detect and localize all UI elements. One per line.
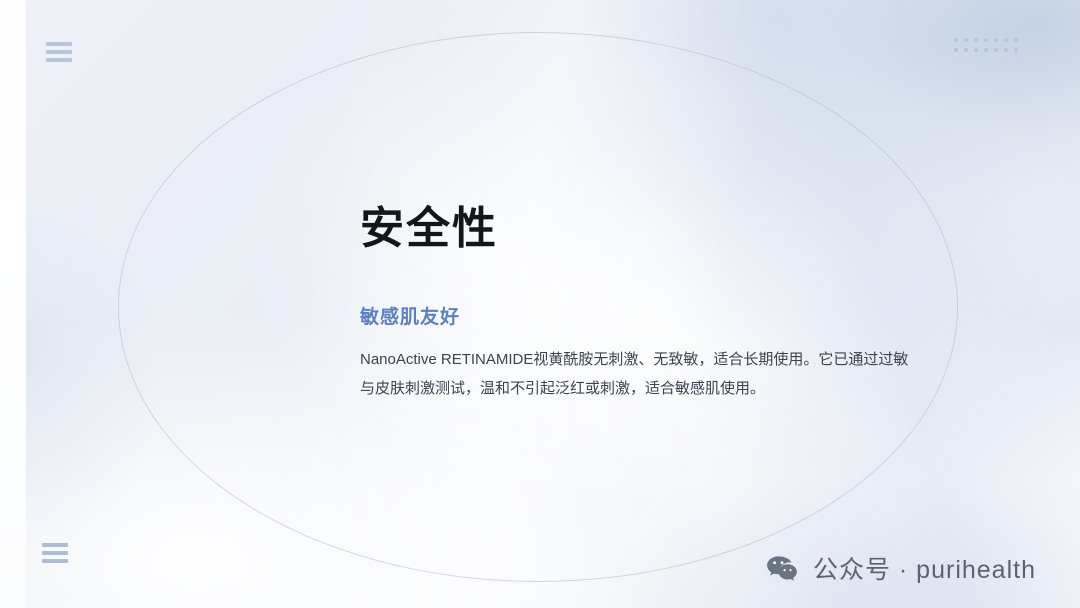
ellipse-outline-decoration xyxy=(118,32,958,582)
footer-credit: 公众号 · purihealth xyxy=(765,550,1036,586)
slide-canvas: 安全性 敏感肌友好 NanoActive RETINAMIDE视黄酰胺无刺激、无… xyxy=(0,0,1080,608)
background-texture-clouds xyxy=(0,0,1080,608)
slide-subtitle: 敏感肌友好 xyxy=(360,302,460,329)
hamburger-icon-bottom xyxy=(42,543,68,563)
slide-body: NanoActive RETINAMIDE视黄酰胺无刺激、无致敏，适合长期使用。… xyxy=(360,345,960,403)
wechat-icon xyxy=(765,551,799,585)
left-white-band xyxy=(0,0,26,608)
body-line-2: 与皮肤刺激测试，温和不引起泛红或刺激，适合敏感肌使用。 xyxy=(360,374,960,403)
background-texture-sheen xyxy=(0,0,1080,608)
body-line-1: NanoActive RETINAMIDE视黄酰胺无刺激、无致敏，适合长期使用。… xyxy=(360,345,960,374)
footer-label: 公众号 · purihealth xyxy=(813,550,1036,586)
dot-grid-decoration xyxy=(954,38,1024,58)
hamburger-icon-top xyxy=(46,42,72,62)
slide-title: 安全性 xyxy=(360,192,498,256)
